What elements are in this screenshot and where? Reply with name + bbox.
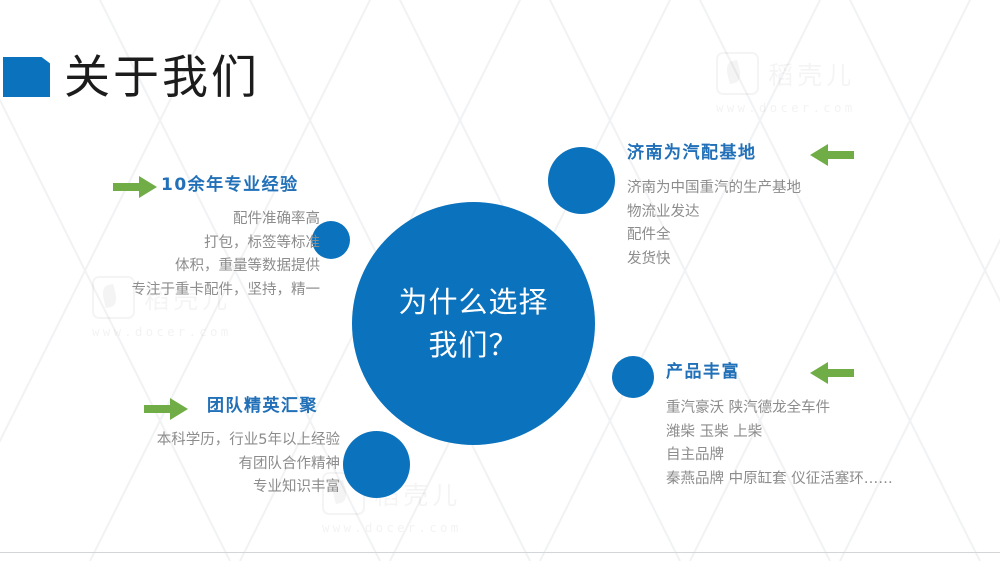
center-circle-label: 为什么选择我们？ xyxy=(394,281,554,365)
feature-line: 打包，标签等标准 xyxy=(20,232,320,255)
bottom-divider xyxy=(0,552,1000,553)
watermark: 稻壳儿 www.docer.com xyxy=(716,52,855,115)
feature-line: 发货快 xyxy=(627,248,801,271)
feature-line: 济南为中国重汽的生产基地 xyxy=(627,177,801,200)
feature-line: 潍柴 玉柴 上柴 xyxy=(666,421,893,444)
center-circle: 为什么选择我们？ xyxy=(352,202,595,445)
docer-logo-icon xyxy=(716,52,759,95)
feature-body: 重汽豪沃 陕汽德龙全车件 潍柴 玉柴 上柴 自主品牌 秦燕品牌 中原缸套 仪征活… xyxy=(666,397,893,491)
feature-line: 体积，重量等数据提供 xyxy=(20,255,320,278)
feature-line: 专业知识丰富 xyxy=(20,476,340,499)
feature-heading: 产品丰富 xyxy=(666,362,893,382)
feature-heading: 团队精英汇聚 xyxy=(207,396,340,416)
feature-block-team: 团队精英汇聚 本科学历，行业5年以上经验 有团队合作精神 专业知识丰富 xyxy=(20,396,340,500)
feature-line: 本科学历，行业5年以上经验 xyxy=(20,429,340,452)
feature-line: 专注于重卡配件，坚持，精一 xyxy=(20,279,320,302)
watermark-url: www.docer.com xyxy=(716,100,855,115)
watermark-url: www.docer.com xyxy=(92,324,231,339)
feature-line: 物流业发达 xyxy=(627,201,801,224)
feature-line: 自主品牌 xyxy=(666,444,893,467)
feature-block-experience: 10余年专业经验 配件准确率高 打包，标签等标准 体积，重量等数据提供 专注于重… xyxy=(20,175,320,302)
feature-block-base: 济南为汽配基地 济南为中国重汽的生产基地 物流业发达 配件全 发货快 xyxy=(627,143,801,271)
feature-line: 重汽豪沃 陕汽德龙全车件 xyxy=(666,397,893,420)
arrow-left-icon xyxy=(810,143,854,167)
feature-body: 本科学历，行业5年以上经验 有团队合作精神 专业知识丰富 xyxy=(20,429,340,499)
feature-line: 秦燕品牌 中原缸套 仪征活塞环…… xyxy=(666,468,893,491)
feature-body: 配件准确率高 打包，标签等标准 体积，重量等数据提供 专注于重卡配件，坚持，精一 xyxy=(20,208,320,302)
feature-line: 配件准确率高 xyxy=(20,208,320,231)
feature-line: 有团队合作精神 xyxy=(20,453,340,476)
feature-body: 济南为中国重汽的生产基地 物流业发达 配件全 发货快 xyxy=(627,177,801,271)
decor-circle-bottom xyxy=(343,431,410,498)
feature-heading: 济南为汽配基地 xyxy=(627,143,801,163)
feature-block-products: 产品丰富 重汽豪沃 陕汽德龙全车件 潍柴 玉柴 上柴 自主品牌 秦燕品牌 中原缸… xyxy=(666,362,893,491)
watermark-url: www.docer.com xyxy=(322,520,461,535)
page-title: 关于我们 xyxy=(64,41,260,107)
decor-circle-right-small xyxy=(612,356,654,398)
feature-line: 配件全 xyxy=(627,224,801,247)
slide-canvas: 稻壳儿 www.docer.com 稻壳儿 www.docer.com 稻壳儿 … xyxy=(0,0,1000,561)
feature-heading: 10余年专业经验 xyxy=(161,175,320,195)
title-accent-badge xyxy=(3,57,50,97)
watermark-label: 稻壳儿 xyxy=(768,56,855,92)
decor-circle-top-right xyxy=(548,147,615,214)
